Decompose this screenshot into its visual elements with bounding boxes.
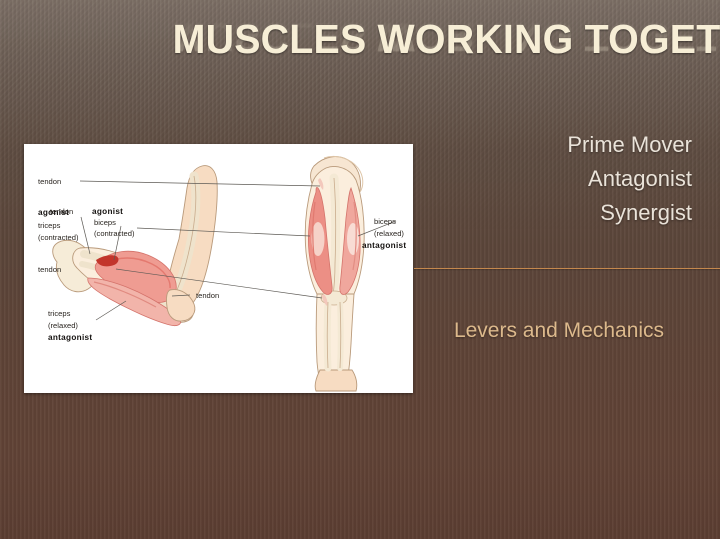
extended-label-tendon-2: tendon bbox=[38, 265, 61, 274]
extended-label-tendon-1: tendon bbox=[38, 177, 61, 186]
horizontal-divider bbox=[414, 268, 720, 269]
extended-label-relaxed: (relaxed) bbox=[374, 229, 404, 238]
title-block: MUSCLES WORKING TOGETHER MUSCLES WORKING… bbox=[150, 16, 716, 106]
list-item-antagonist: Antagonist bbox=[420, 162, 692, 196]
key-terms-list: Prime Mover Antagonist Synergist bbox=[420, 128, 692, 230]
extended-label-contracted: (contracted) bbox=[38, 233, 79, 242]
list-item-prime-mover: Prime Mover bbox=[420, 128, 692, 162]
presentation-slide: MUSCLES WORKING TOGETHER MUSCLES WORKING… bbox=[0, 0, 720, 539]
flexed-label-agonist: agonist bbox=[92, 207, 123, 216]
flexed-label-biceps: biceps bbox=[94, 218, 116, 227]
leader-triceps bbox=[96, 301, 126, 320]
flexed-label-antagonist: antagonist bbox=[48, 333, 92, 342]
subheading-text: Levers and Mechanics bbox=[414, 318, 704, 344]
flexed-label-contracted: (contracted) bbox=[94, 229, 135, 238]
flexed-label-relaxed: (relaxed) bbox=[48, 321, 78, 330]
extended-label-triceps: triceps bbox=[38, 221, 61, 230]
hand-extended bbox=[315, 370, 357, 391]
flexed-arm-illustration: tendon agonist biceps (contracted) tendo… bbox=[48, 166, 219, 342]
leader-triceps-extended bbox=[137, 228, 310, 236]
page-title-reflection: MUSCLES WORKING TOGETHER bbox=[173, 14, 716, 60]
flexed-label-tendon-2: tendon bbox=[196, 291, 219, 300]
list-item-synergist: Synergist bbox=[420, 196, 692, 230]
flexed-label-triceps: triceps bbox=[48, 309, 71, 318]
anatomy-figure-svg: tendon agonist biceps (contracted) tendo… bbox=[24, 144, 413, 393]
anatomy-figure-panel: tendon agonist biceps (contracted) tendo… bbox=[24, 144, 413, 393]
biceps-highlight bbox=[347, 223, 359, 255]
extended-label-agonist: agonist bbox=[38, 208, 69, 217]
extended-label-antagonist: antagonist bbox=[362, 241, 406, 250]
extended-label-biceps: biceps bbox=[374, 217, 396, 226]
